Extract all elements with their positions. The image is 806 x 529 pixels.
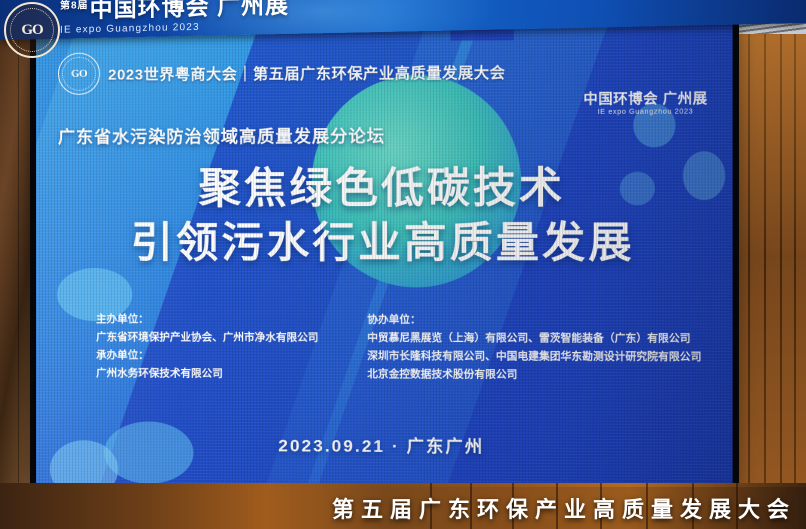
emblem-label: GO xyxy=(21,22,42,39)
main-title-block: 聚焦绿色低碳技术 引领污水行业高质量发展 xyxy=(36,160,733,270)
sub-forum-title: 广东省水污染防治领域高质量发展分论坛 xyxy=(58,122,385,148)
coorganizer-line-3: 北京金控数据技术股份有限公司 xyxy=(367,365,701,384)
main-title-line-1: 聚焦绿色低碳技术 xyxy=(36,160,733,215)
guangdong-merchants-emblem-icon: GO xyxy=(58,53,100,95)
top-banner-title-cn: 中国环博会 广州展 xyxy=(90,0,289,22)
organizers-left-column: 主办单位： 广东省环境保护产业协会、广州市净水有限公司 承办单位： 广州水务环保… xyxy=(96,310,337,383)
organizer-value: 广州水务环保技术有限公司 xyxy=(96,364,337,383)
corner-logo-title-en: IE expo Guangzhou 2023 xyxy=(583,108,707,116)
host-label: 主办单位： xyxy=(96,310,337,329)
coorganizer-line-2: 深圳市长隆科技有限公司、中国电建集团华东勘测设计研究院有限公司 xyxy=(367,347,701,366)
host-value: 广东省环境保护产业协会、广州市净水有限公司 xyxy=(96,328,337,347)
screen-corner-logo: 中国环博会 广州展 IE expo Guangzhou 2023 xyxy=(583,91,707,116)
screen-header-row: GO 2023世界粤商大会｜第五届广东环保产业高质量发展大会 xyxy=(58,50,506,94)
conference-hall-photo: GO 2023世界粤商大会｜第五届广东环保产业高质量发展大会 广东省水污染防治领… xyxy=(0,0,806,529)
coorganizer-label: 协办单位： xyxy=(367,311,701,330)
guangdong-merchants-emblem-icon-large: GO xyxy=(4,2,60,58)
led-screen: GO 2023世界粤商大会｜第五届广东环保产业高质量发展大会 广东省水污染防治领… xyxy=(36,5,733,492)
organizers-block: 主办单位： 广东省环境保护产业协会、广州市净水有限公司 承办单位： 广州水务环保… xyxy=(96,310,701,385)
top-banner-edition-badge: 第8届 xyxy=(60,1,89,12)
coorganizer-line-1: 中贸慕尼黑展览（上海）有限公司、雷茨智能装备（广东）有限公司 xyxy=(367,329,701,348)
organizers-right-column: 协办单位： 中贸慕尼黑展览（上海）有限公司、雷茨智能装备（广东）有限公司 深圳市… xyxy=(367,311,701,385)
bottom-banner-text: 第五届广东环保产业高质量发展大会 xyxy=(332,492,806,524)
screen-content: GO 2023世界粤商大会｜第五届广东环保产业高质量发展大会 广东省水污染防治领… xyxy=(36,5,733,492)
organizer-label: 承办单位： xyxy=(96,346,337,365)
date-and-location: 2023.09.21 · 广东广州 xyxy=(36,430,733,459)
bottom-stage-banner: 第五届广东环保产业高质量发展大会 xyxy=(0,487,806,529)
top-banner-text: 第8届中国环博会 广州展 IE expo Guangzhou 2023 xyxy=(60,0,289,36)
corner-logo-title-cn: 中国环博会 广州展 xyxy=(583,91,707,106)
screen-header-title: 2023世界粤商大会｜第五届广东环保产业高质量发展大会 xyxy=(108,61,505,84)
main-title-line-2: 引领污水行业高质量发展 xyxy=(36,215,733,270)
emblem-label: GO xyxy=(71,68,87,80)
